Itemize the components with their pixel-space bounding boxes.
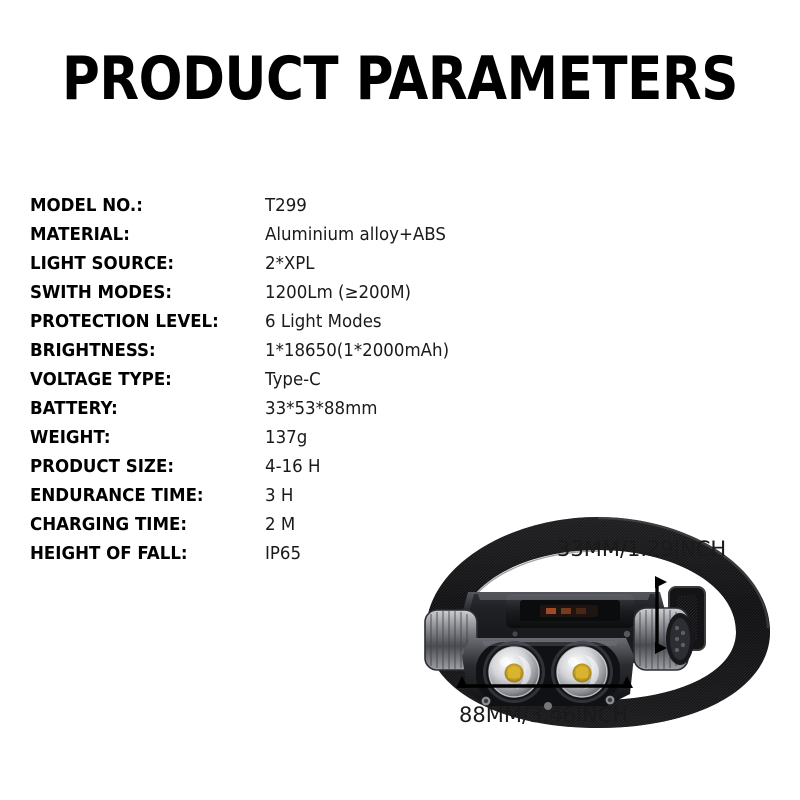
- spec-row: LIGHT SOURCE: 2*XPL: [30, 250, 500, 279]
- spec-row: PROTECTION LEVEL: 6 Light Modes: [30, 308, 500, 337]
- width-dimension-label: 88MM/3.46INCH: [459, 703, 628, 727]
- spec-label: PRODUCT SIZE:: [30, 453, 253, 482]
- spec-row: MATERIAL: Aluminium alloy+ABS: [30, 221, 500, 250]
- spec-row: VOLTAGE TYPE: Type-C: [30, 366, 500, 395]
- spec-label: HEIGHT OF FALL:: [30, 540, 253, 569]
- spec-label: MATERIAL:: [30, 221, 253, 250]
- spec-row: MODEL NO.: T299: [30, 192, 500, 221]
- spec-value: T299: [265, 192, 488, 221]
- right-knurled-cap: [634, 608, 694, 670]
- spec-label: VOLTAGE TYPE:: [30, 366, 253, 395]
- spec-value: Type-C: [265, 366, 488, 395]
- led-module-right: [551, 641, 613, 703]
- product-parameters-page: PRODUCT PARAMETERS MODEL NO.: T299 MATER…: [0, 0, 800, 800]
- spec-label: BRIGHTNESS:: [30, 337, 253, 366]
- spec-value: 1200Lm (≥200M): [265, 279, 488, 308]
- spec-value: 1*18650(1*2000mAh): [265, 337, 488, 366]
- spec-label: MODEL NO.:: [30, 192, 253, 221]
- spec-label: ENDURANCE TIME:: [30, 482, 253, 511]
- spec-value: Aluminium alloy+ABS: [265, 221, 488, 250]
- page-title: PRODUCT PARAMETERS: [56, 48, 744, 110]
- spec-label: LIGHT SOURCE:: [30, 250, 253, 279]
- spec-value: 2*XPL: [265, 250, 488, 279]
- spec-label: WEIGHT:: [30, 424, 253, 453]
- height-dimension-label: 33MM/1.29INCH: [557, 537, 726, 561]
- spec-label: CHARGING TIME:: [30, 511, 253, 540]
- spec-row: SWITH MODES: 1200Lm (≥200M): [30, 279, 500, 308]
- led-module-left: [483, 641, 545, 703]
- spec-label: BATTERY:: [30, 395, 253, 424]
- spec-value: 6 Light Modes: [265, 308, 488, 337]
- spec-value: 33*53*88mm: [265, 395, 488, 424]
- spec-row: BRIGHTNESS: 1*18650(1*2000mAh): [30, 337, 500, 366]
- spec-row: BATTERY: 33*53*88mm: [30, 395, 500, 424]
- spec-label: SWITH MODES:: [30, 279, 253, 308]
- spec-label: PROTECTION LEVEL:: [30, 308, 253, 337]
